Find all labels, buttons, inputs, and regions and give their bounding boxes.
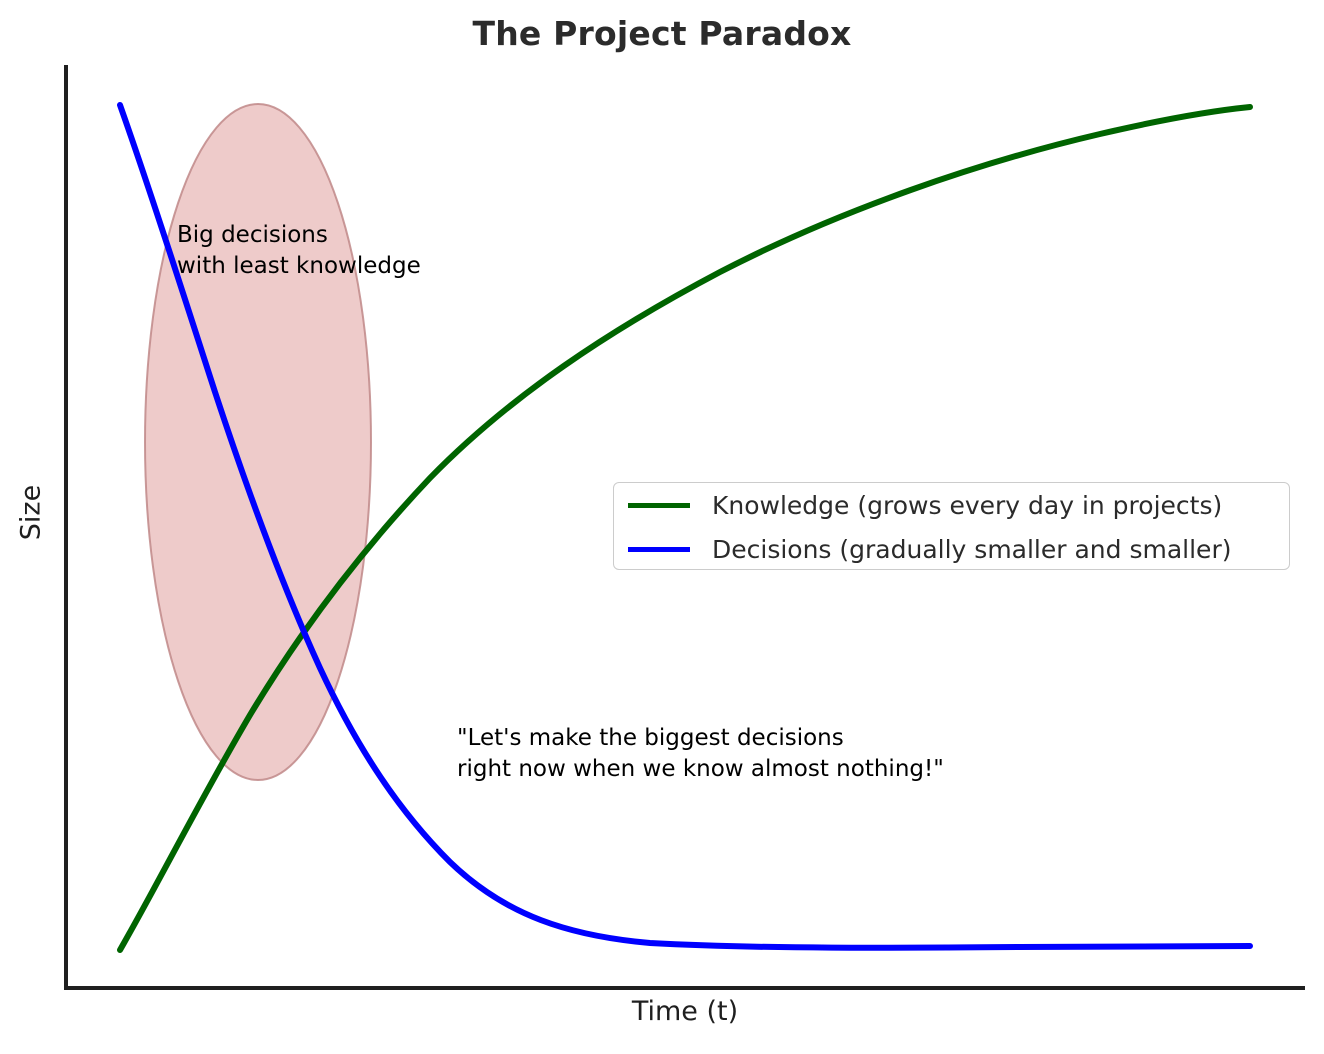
annotation-quote: "Let's make the biggest decisionsright n… [457, 723, 944, 785]
legend-item-knowledge[interactable]: Knowledge (grows every day in projects) [614, 483, 1289, 527]
chart-legend[interactable]: Knowledge (grows every day in projects) … [613, 482, 1290, 570]
annotation-big-decisions-line2: with least knowledge [177, 253, 421, 279]
legend-swatch-knowledge [628, 503, 690, 508]
annotation-quote-line1: "Let's make the biggest decisions [457, 725, 844, 751]
annotation-quote-line2: right now when we know almost nothing!" [457, 756, 944, 782]
legend-label-decisions: Decisions (gradually smaller and smaller… [712, 535, 1231, 564]
highlight-ellipse-shape [145, 104, 371, 780]
legend-swatch-decisions [628, 547, 690, 552]
annotation-big-decisions: Big decisionswith least knowledge [177, 220, 421, 282]
annotation-big-decisions-line1: Big decisions [177, 222, 328, 248]
legend-label-knowledge: Knowledge (grows every day in projects) [712, 491, 1222, 520]
chart-canvas: The Project Paradox Size Time (t) Big de… [0, 0, 1324, 1054]
legend-item-decisions[interactable]: Decisions (gradually smaller and smaller… [614, 527, 1289, 571]
